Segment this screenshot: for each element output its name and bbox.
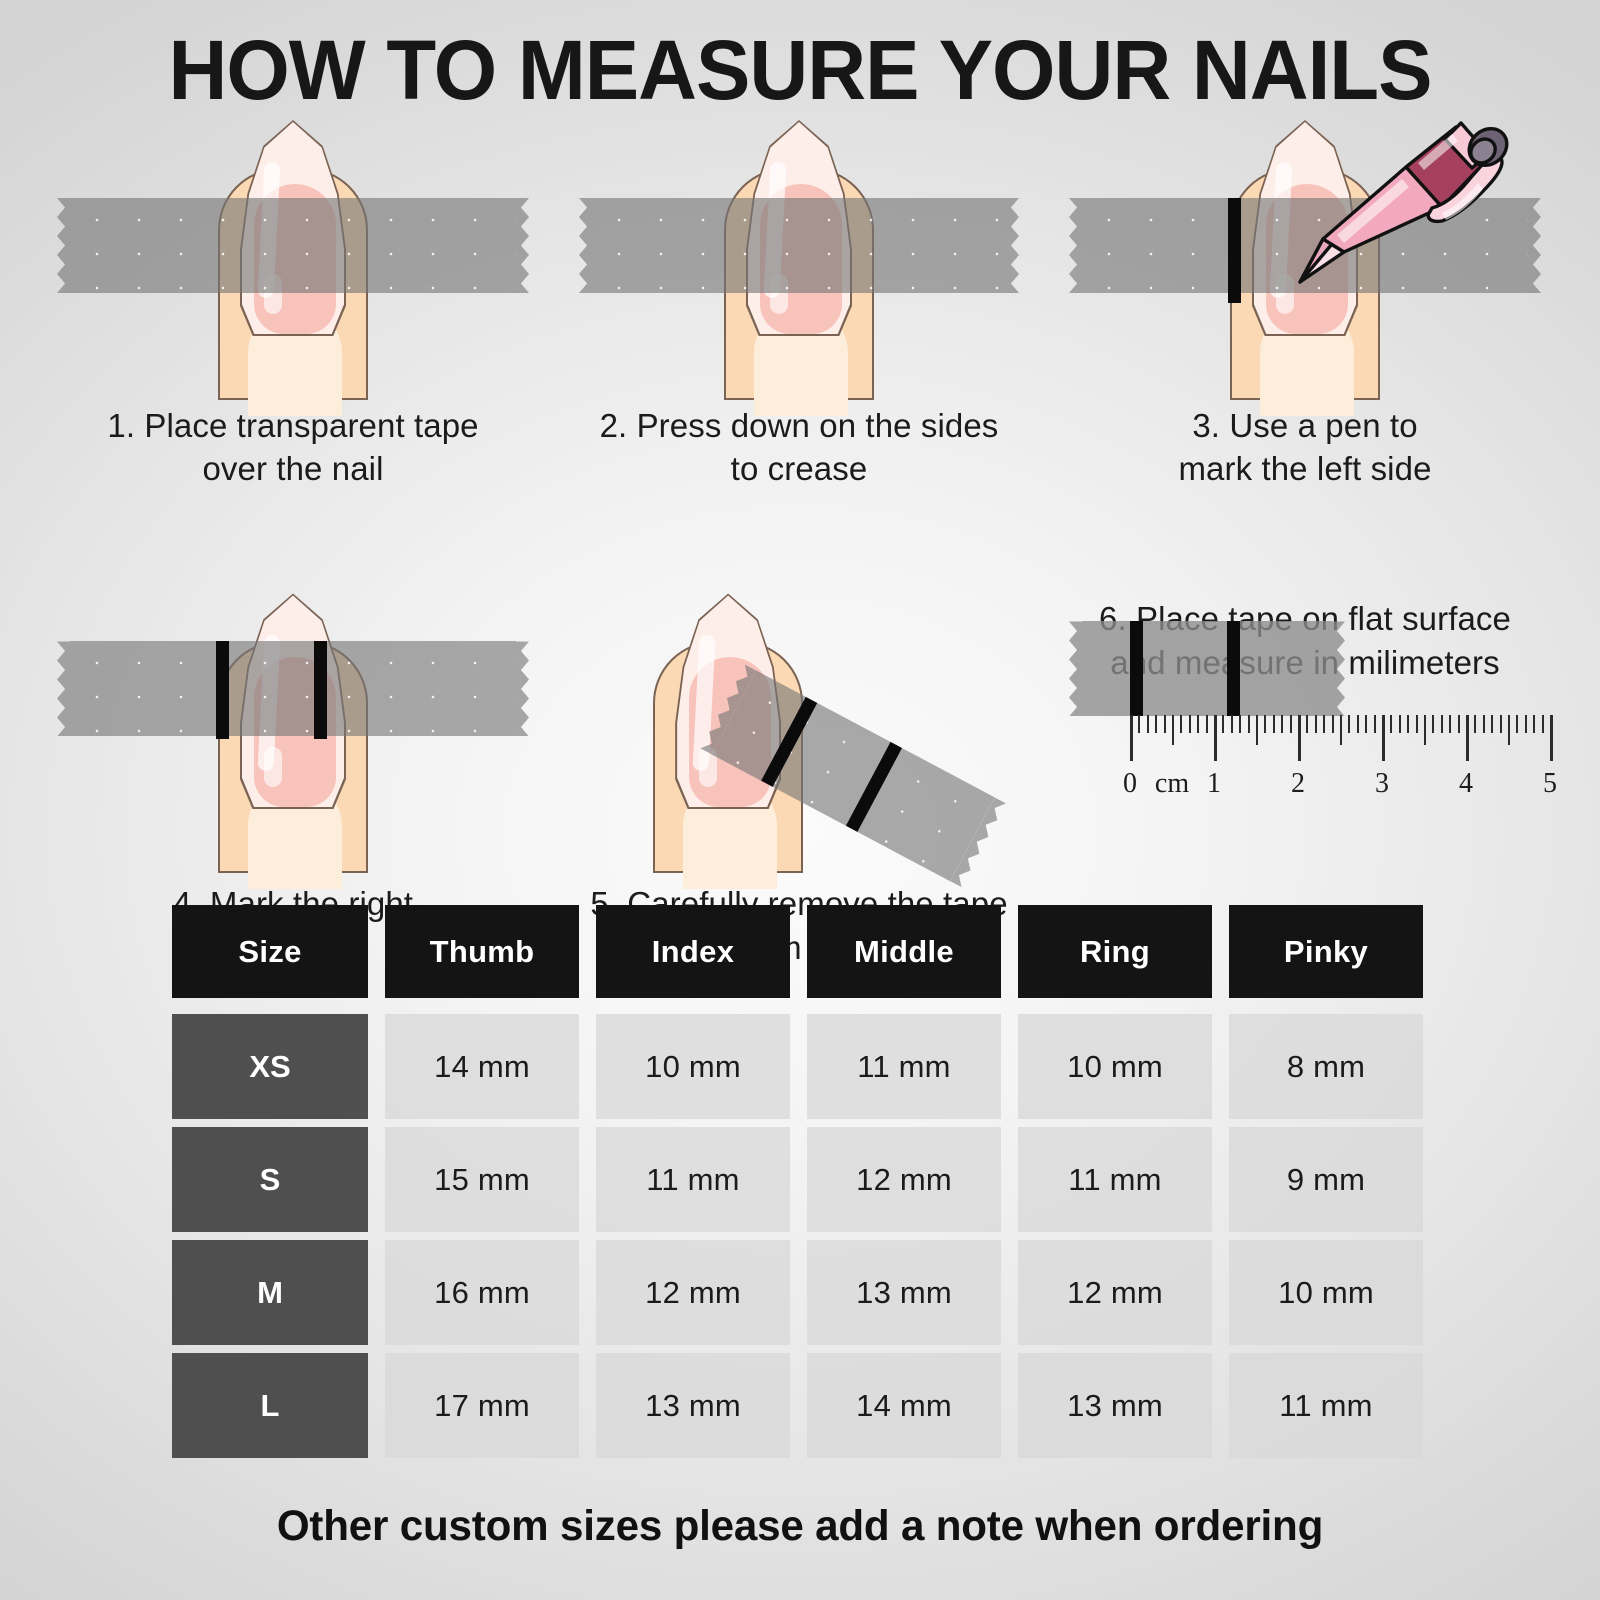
table-header-thumb: Thumb [385, 905, 579, 998]
table-cell-l-ring: 13 mm [1018, 1353, 1212, 1458]
tape-strip-flat [1082, 621, 1332, 716]
tape-zigzag-left-icon [57, 641, 70, 736]
tape-zigzag-right-icon [1006, 198, 1019, 293]
infographic-page: HOW TO MEASURE YOUR NAILS [0, 0, 1600, 1600]
steps-row-1: 1. Place transparent tape over the nail [40, 120, 1560, 490]
ruler-tick-medium [1340, 715, 1342, 745]
ruler-tick-minor [1189, 715, 1191, 733]
table-body: XS14 mm10 mm11 mm10 mm8 mmS15 mm11 mm12 … [172, 1014, 1440, 1458]
ruler-tick-minor [1542, 715, 1544, 733]
ruler-tick-minor [1390, 715, 1392, 733]
table-cell-s-pinky: 9 mm [1229, 1127, 1423, 1232]
ruler-tick-medium [1172, 715, 1174, 745]
page-title: HOW TO MEASURE YOUR NAILS [24, 28, 1576, 112]
pen-mark-right [1227, 621, 1240, 716]
tape-zigzag-right-icon [1332, 621, 1345, 716]
ruler-tick-minor [1533, 715, 1535, 733]
ruler-tick-minor [1264, 715, 1266, 733]
ruler-tick-major [1382, 715, 1385, 761]
tape-zigzag-right-icon [1528, 198, 1541, 293]
step-3-illustration [1052, 120, 1558, 400]
ruler-tick-minor [1432, 715, 1434, 733]
ruler-tick-medium [1256, 715, 1258, 745]
table-cell-l-middle: 14 mm [807, 1353, 1001, 1458]
table-header-size: Size [172, 905, 368, 998]
table-cell-s-index: 11 mm [596, 1127, 790, 1232]
ruler-tick-major [1214, 715, 1217, 761]
ruler-tick-minor [1407, 715, 1409, 733]
tape-zigzag-left-icon [1069, 198, 1082, 293]
table-cell-s-middle: 12 mm [807, 1127, 1001, 1232]
ruler-tick-minor [1222, 715, 1224, 733]
ruler-tick-minor [1281, 715, 1283, 733]
size-label-s: S [172, 1127, 368, 1232]
ruler-tick-minor [1516, 715, 1518, 733]
ruler-label-1: 1 [1207, 768, 1221, 800]
ruler-tick-minor [1290, 715, 1292, 733]
table-header-pinky: Pinky [1229, 905, 1423, 998]
ruler-tick-minor [1147, 715, 1149, 733]
ruler-tick-minor [1197, 715, 1199, 733]
pen-mark-right [314, 641, 327, 739]
ruler-label-5: 5 [1543, 768, 1557, 800]
tape-strip [70, 198, 516, 293]
tape-texture [70, 641, 516, 736]
step-1-line2: over the nail [50, 447, 536, 490]
ruler-label-0: 0 [1123, 768, 1137, 800]
step-3: 3. Use a pen to mark the left side [1052, 120, 1558, 490]
step-1: 1. Place transparent tape over the nail [40, 120, 546, 490]
ruler-tick-minor [1374, 715, 1376, 733]
table-row: M16 mm12 mm13 mm12 mm10 mm [172, 1240, 1440, 1345]
step-4-illustration [40, 593, 546, 878]
ruler-tick-minor [1483, 715, 1485, 733]
step-2-line2: to crease [556, 447, 1042, 490]
ruler-tick-minor [1180, 715, 1182, 733]
tape-strip [70, 641, 516, 736]
tape-texture [592, 198, 1006, 293]
pen-mark-left [216, 641, 229, 739]
step-1-illustration [40, 120, 546, 400]
table-cell-xs-pinky: 8 mm [1229, 1014, 1423, 1119]
ruler-tick-minor [1399, 715, 1401, 733]
ruler-tick-minor [1441, 715, 1443, 733]
table-row: S15 mm11 mm12 mm11 mm9 mm [172, 1127, 1440, 1232]
pen-mark-left [1228, 198, 1241, 303]
ruler-tick-minor [1315, 715, 1317, 733]
ruler-tick-minor [1323, 715, 1325, 733]
step-2-caption: 2. Press down on the sides to crease [546, 404, 1052, 490]
table-cell-s-ring: 11 mm [1018, 1127, 1212, 1232]
ruler-tick-minor [1416, 715, 1418, 733]
ruler-tick-minor [1357, 715, 1359, 733]
tape-zigzag-left-icon [1069, 621, 1082, 716]
ruler-tick-minor [1332, 715, 1334, 733]
ruler-tick-minor [1138, 715, 1140, 733]
ruler-tick-minor [1525, 715, 1527, 733]
tape-zigzag-left-icon [579, 198, 592, 293]
pen-icon [1282, 115, 1512, 290]
table-cell-xs-thumb: 14 mm [385, 1014, 579, 1119]
tape-zigzag-right-icon [516, 198, 529, 293]
ruler-label-3: 3 [1375, 768, 1389, 800]
ruler-tick-minor [1239, 715, 1241, 733]
ruler-tick-major [1550, 715, 1553, 761]
size-label-m: M [172, 1240, 368, 1345]
step-1-caption: 1. Place transparent tape over the nail [40, 404, 546, 490]
ruler-tick-minor [1348, 715, 1350, 733]
ruler-tick-major [1466, 715, 1469, 761]
ruler-tick-major [1298, 715, 1301, 761]
ruler-tick-minor [1458, 715, 1460, 733]
size-label-l: L [172, 1353, 368, 1458]
table-cell-l-thumb: 17 mm [385, 1353, 579, 1458]
ruler-tick-minor [1206, 715, 1208, 733]
ruler-label-2: 2 [1291, 768, 1305, 800]
table-cell-m-index: 12 mm [596, 1240, 790, 1345]
table-cell-l-index: 13 mm [596, 1353, 790, 1458]
ruler-label-4: 4 [1459, 768, 1473, 800]
ruler-unit-label: cm [1155, 768, 1189, 800]
steps-section: 1. Place transparent tape over the nail [40, 120, 1560, 969]
ruler-tick-minor [1474, 715, 1476, 733]
table-cell-m-ring: 12 mm [1018, 1240, 1212, 1345]
size-label-xs: XS [172, 1014, 368, 1119]
ruler-tick-major [1130, 715, 1133, 761]
ruler-tick-minor [1273, 715, 1275, 733]
table-cell-xs-middle: 11 mm [807, 1014, 1001, 1119]
ruler-tick-medium [1424, 715, 1426, 745]
ruler-tick-medium [1508, 715, 1510, 745]
size-chart-table: SizeThumbIndexMiddleRingPinky XS14 mm10 … [172, 905, 1440, 1466]
table-header-middle: Middle [807, 905, 1001, 998]
step-3-caption: 3. Use a pen to mark the left side [1052, 404, 1558, 490]
tape-zigzag-left-icon [57, 198, 70, 293]
tape-zigzag-right-icon [516, 641, 529, 736]
ruler-tick-minor [1164, 715, 1166, 733]
ruler-tick-minor [1248, 715, 1250, 733]
step-5-illustration [546, 593, 1052, 878]
ruler-tick-minor [1231, 715, 1233, 733]
step-6-illustration: 012345cm [1052, 593, 1558, 878]
table-header-index: Index [596, 905, 790, 998]
table-row: L17 mm13 mm14 mm13 mm11 mm [172, 1353, 1440, 1458]
step-3-line2: mark the left side [1062, 447, 1548, 490]
table-cell-m-middle: 13 mm [807, 1240, 1001, 1345]
table-cell-xs-ring: 10 mm [1018, 1014, 1212, 1119]
footer-note: Other custom sizes please add a note whe… [16, 1502, 1584, 1551]
nail-shine-small-icon [264, 747, 282, 787]
ruler-tick-minor [1365, 715, 1367, 733]
ruler-tick-minor [1500, 715, 1502, 733]
ruler-tick-minor [1449, 715, 1451, 733]
tape-texture [70, 198, 516, 293]
table-header-row: SizeThumbIndexMiddleRingPinky [172, 905, 1440, 998]
table-cell-m-pinky: 10 mm [1229, 1240, 1423, 1345]
tape-strip-creased [592, 198, 1006, 293]
table-cell-l-pinky: 11 mm [1229, 1353, 1423, 1458]
pen-mark-left [1130, 621, 1143, 716]
ruler-tick-minor [1155, 715, 1157, 733]
step-2-illustration [546, 120, 1052, 400]
table-row: XS14 mm10 mm11 mm10 mm8 mm [172, 1014, 1440, 1119]
table-header-ring: Ring [1018, 905, 1212, 998]
table-cell-s-thumb: 15 mm [385, 1127, 579, 1232]
table-cell-m-thumb: 16 mm [385, 1240, 579, 1345]
table-cell-xs-index: 10 mm [596, 1014, 790, 1119]
step-2: 2. Press down on the sides to crease [546, 120, 1052, 490]
ruler-tick-minor [1491, 715, 1493, 733]
ruler-tick-minor [1306, 715, 1308, 733]
